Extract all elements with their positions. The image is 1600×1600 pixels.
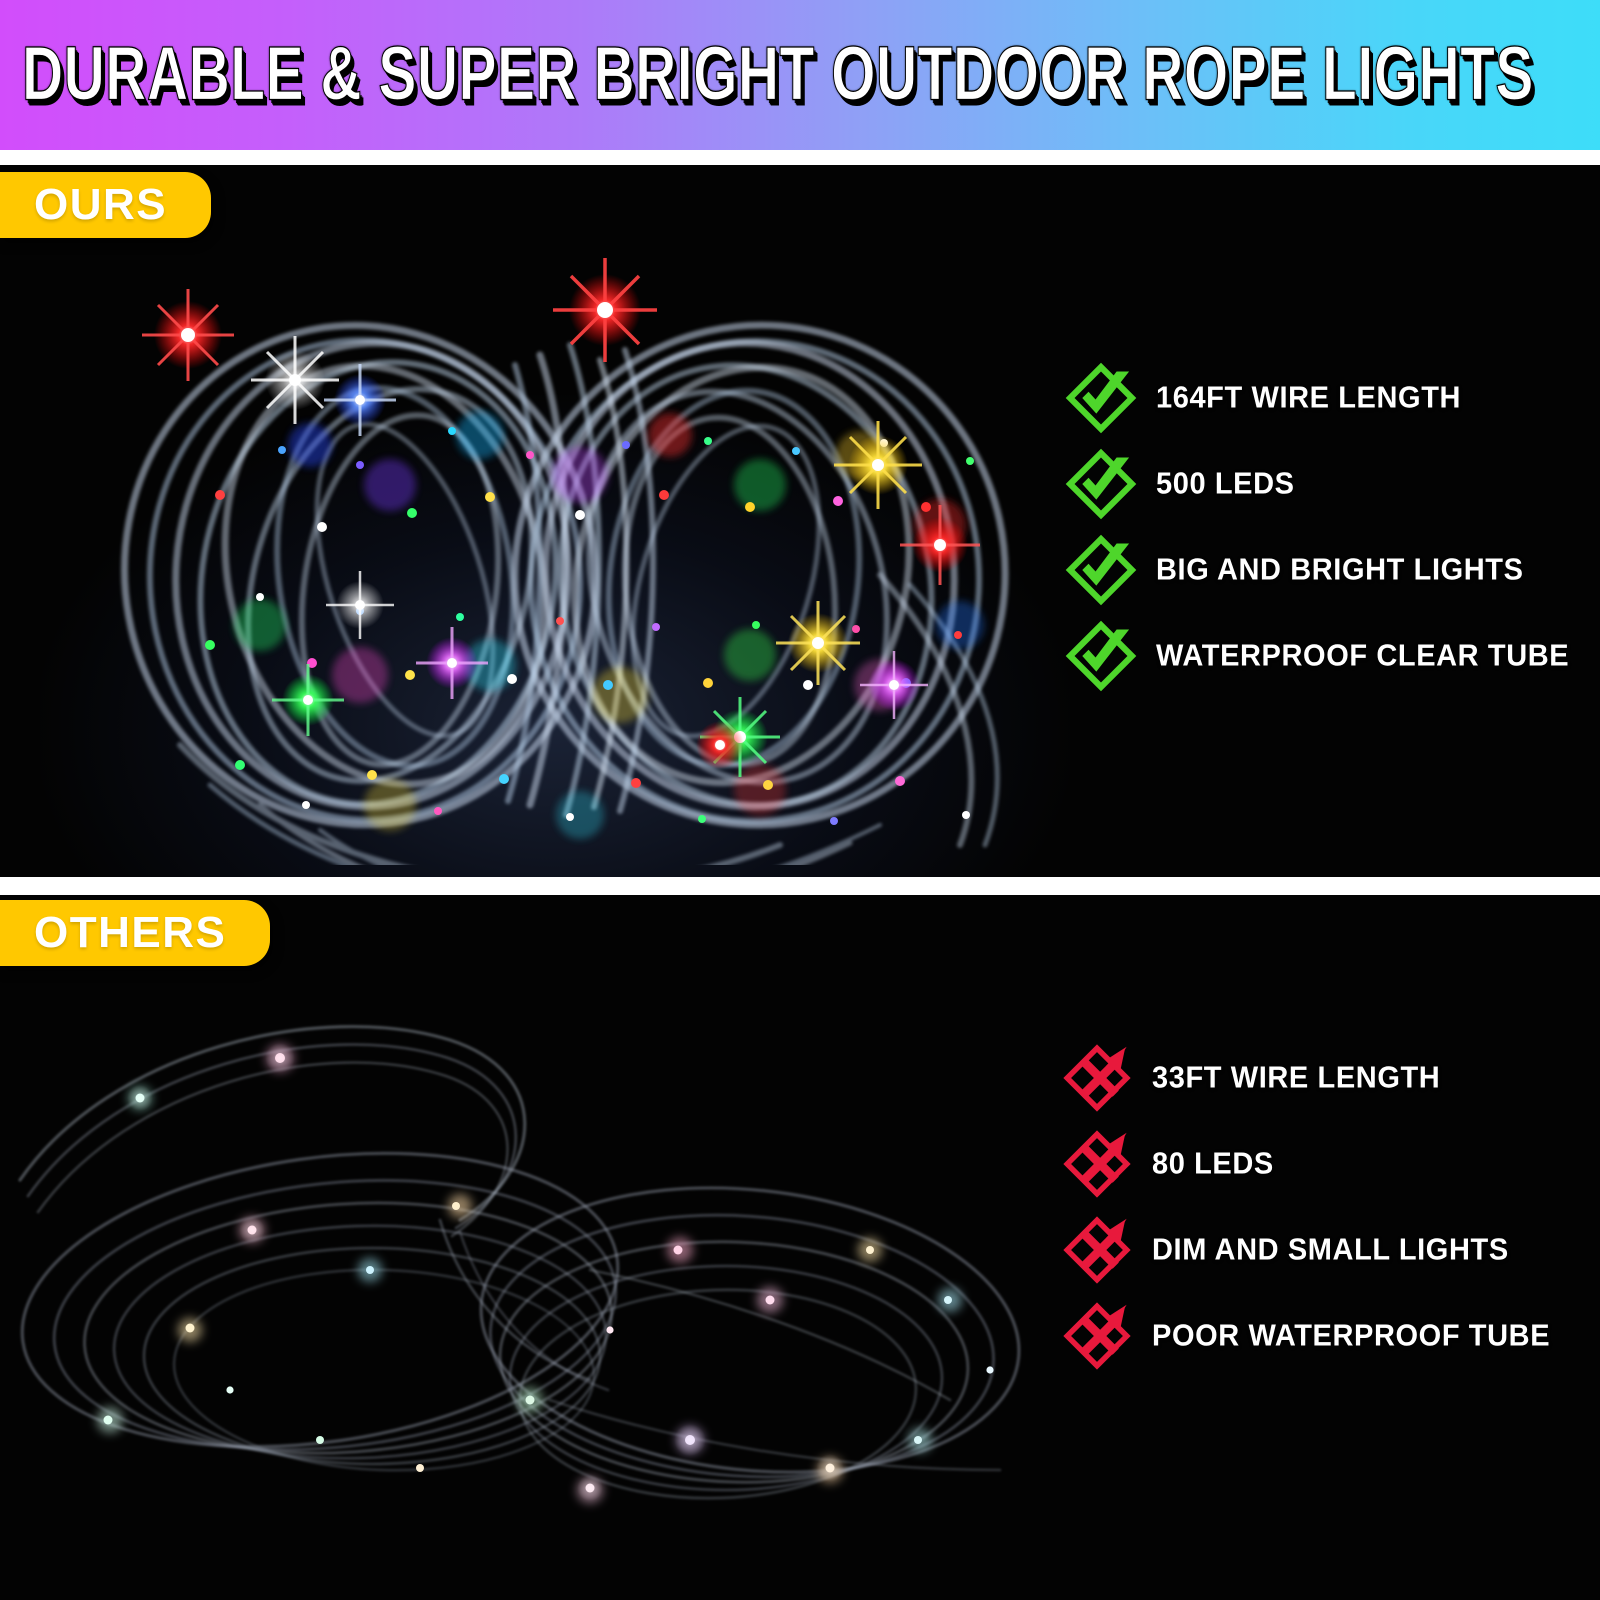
feature-row: POOR WATERPROOF TUBE <box>1058 1293 1550 1379</box>
section-divider <box>0 877 1600 895</box>
feature-row: 500 LEDS <box>1062 441 1569 527</box>
feature-row: BIG AND BRIGHT LIGHTS <box>1062 527 1569 613</box>
feature-label: POOR WATERPROOF TUBE <box>1152 1320 1550 1353</box>
feature-row: WATERPROOF CLEAR TUBE <box>1062 613 1569 699</box>
feature-label: 164FT WIRE LENGTH <box>1156 382 1461 415</box>
check-diamond-icon <box>1062 445 1140 523</box>
cross-diamond-icon <box>1058 1297 1136 1375</box>
cross-diamond-icon <box>1058 1039 1136 1117</box>
feature-row: 164FT WIRE LENGTH <box>1062 355 1569 441</box>
cross-diamond-icon <box>1058 1125 1136 1203</box>
feature-label: 80 LEDS <box>1152 1148 1274 1181</box>
header-divider <box>0 150 1600 165</box>
badge-others-label: OTHERS <box>34 911 226 955</box>
check-diamond-icon <box>1062 359 1140 437</box>
badge-ours-label: OURS <box>34 183 167 227</box>
feature-label: BIG AND BRIGHT LIGHTS <box>1156 554 1524 587</box>
feature-row: 33FT WIRE LENGTH <box>1058 1035 1550 1121</box>
features-list-ours: 164FT WIRE LENGTH 500 LEDS BIG AND BRIGH… <box>1062 355 1569 699</box>
features-list-others: 33FT WIRE LENGTH 80 LEDS DIM AND SMALL L… <box>1058 1035 1550 1379</box>
page-title: DURABLE & SUPER BRIGHT OUTDOOR ROPE LIGH… <box>22 44 1582 106</box>
feature-row: 80 LEDS <box>1058 1121 1550 1207</box>
feature-label: WATERPROOF CLEAR TUBE <box>1156 640 1569 673</box>
feature-label: 500 LEDS <box>1156 468 1295 501</box>
badge-others: OTHERS <box>0 900 270 966</box>
check-diamond-icon <box>1062 617 1140 695</box>
header-banner: DURABLE & SUPER BRIGHT OUTDOOR ROPE LIGH… <box>0 0 1600 150</box>
feature-row: DIM AND SMALL LIGHTS <box>1058 1207 1550 1293</box>
badge-ours: OURS <box>0 172 211 238</box>
ours-product-image <box>60 245 1060 865</box>
others-product-image <box>0 970 1040 1530</box>
feature-label: 33FT WIRE LENGTH <box>1152 1062 1440 1095</box>
feature-label: DIM AND SMALL LIGHTS <box>1152 1234 1509 1267</box>
cross-diamond-icon <box>1058 1211 1136 1289</box>
page-title-text: DURABLE & SUPER BRIGHT OUTDOOR ROPE LIGH… <box>22 37 1534 113</box>
check-diamond-icon <box>1062 531 1140 609</box>
